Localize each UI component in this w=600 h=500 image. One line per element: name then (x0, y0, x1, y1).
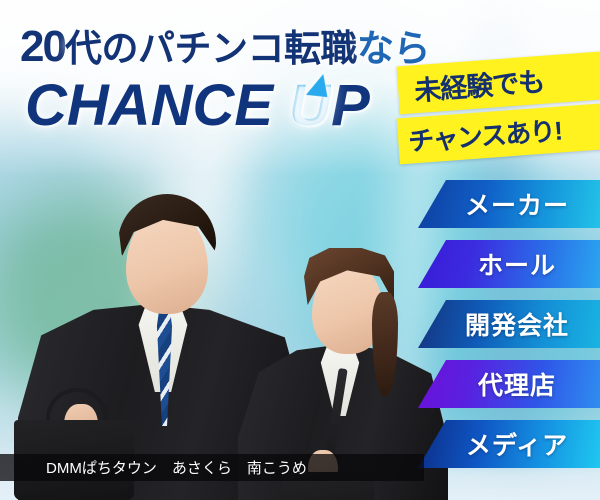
people-photo-group (0, 140, 440, 500)
category-label: 代理店 (478, 366, 556, 402)
category-button-media[interactable]: メディア (418, 420, 600, 468)
category-button-list: メーカー ホール 開発会社 代理店 メディア (418, 180, 600, 480)
page-title: 20代のパチンコ転職なら (20, 18, 430, 72)
category-label: 開発会社 (465, 306, 569, 342)
headline-body: 代のパチンコ転職 (65, 28, 357, 69)
logo-main-text: CHANCE (25, 73, 273, 138)
category-button-maker[interactable]: メーカー (418, 180, 600, 228)
category-button-agency[interactable]: 代理店 (418, 360, 600, 408)
status-badge: 未経験でも チャンスあり! (398, 58, 600, 156)
category-label: メーカー (465, 186, 569, 222)
logo-up-p: P (331, 73, 370, 138)
caption-text: DMMぱちタウン あさくら 南こうめ (46, 457, 307, 478)
brand-logo: CHANCE UP (25, 72, 370, 139)
recruitment-banner: 20代のパチンコ転職なら CHANCE UP 未経験でも チャンスあり! メーカ… (0, 0, 600, 500)
category-button-developer[interactable]: 開発会社 (418, 300, 600, 348)
category-label: メディア (466, 426, 568, 462)
category-label: ホール (478, 246, 556, 282)
badge-line-1: 未経験でも (397, 50, 600, 115)
caption-strip: DMMぱちタウン あさくら 南こうめ (0, 454, 424, 481)
category-button-hall[interactable]: ホール (418, 240, 600, 288)
headline-number: 20 (20, 22, 65, 71)
